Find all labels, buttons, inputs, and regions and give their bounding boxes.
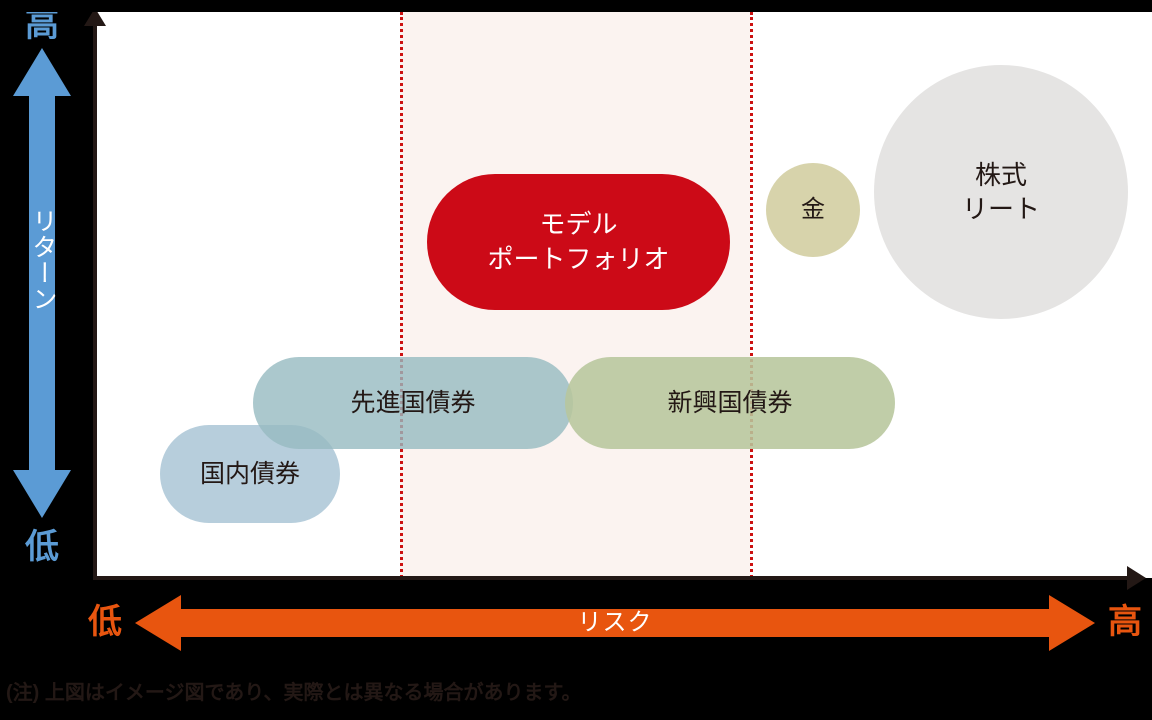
band-boundary-right: [750, 12, 753, 578]
chart-canvas: 国内債券 先進国債券 新興国債券 モデル ポートフォリオ 金 株式 リート 高 …: [0, 0, 1152, 720]
asset-developed-bond: 先進国債券: [253, 357, 573, 449]
asset-gold: 金: [766, 163, 860, 257]
asset-label-developed-bond: 先進国債券: [350, 388, 475, 419]
y-axis-low-label: 低: [10, 530, 74, 564]
band-boundary-left: [400, 12, 403, 578]
asset-equity-reit: 株式 リート: [874, 65, 1128, 319]
asset-label-gold: 金: [801, 195, 825, 224]
footnote-text: (注) 上図はイメージ図であり、実際とは異なる場合があります。: [6, 680, 581, 706]
y-axis-line: [93, 22, 97, 580]
top-border-strip: [0, 0, 1152, 12]
return-arrow-head-down-icon: [13, 470, 71, 518]
asset-label-domestic-bond: 国内債券: [200, 459, 300, 490]
asset-label-equity-reit: 株式 リート: [962, 158, 1040, 227]
x-axis-arrowhead-icon: [1127, 566, 1146, 590]
y-axis-title: リターン: [27, 208, 57, 312]
return-arrow-head-up-icon: [13, 48, 71, 96]
x-axis-title: リスク: [135, 608, 1095, 638]
asset-label-model-portfolio: モデル ポートフォリオ: [487, 207, 669, 277]
asset-emerging-bond: 新興国債券: [565, 357, 895, 449]
return-arrow-icon: リターン: [13, 48, 71, 518]
x-axis-line: [95, 576, 1138, 580]
x-axis-high-label: 高: [1108, 605, 1142, 639]
asset-label-emerging-bond: 新興国債券: [667, 388, 792, 419]
y-axis-high-label: 高: [10, 8, 74, 42]
x-axis-low-label: 低: [88, 605, 122, 639]
asset-model-portfolio: モデル ポートフォリオ: [427, 174, 730, 310]
risk-arrow-icon: リスク: [135, 595, 1095, 651]
